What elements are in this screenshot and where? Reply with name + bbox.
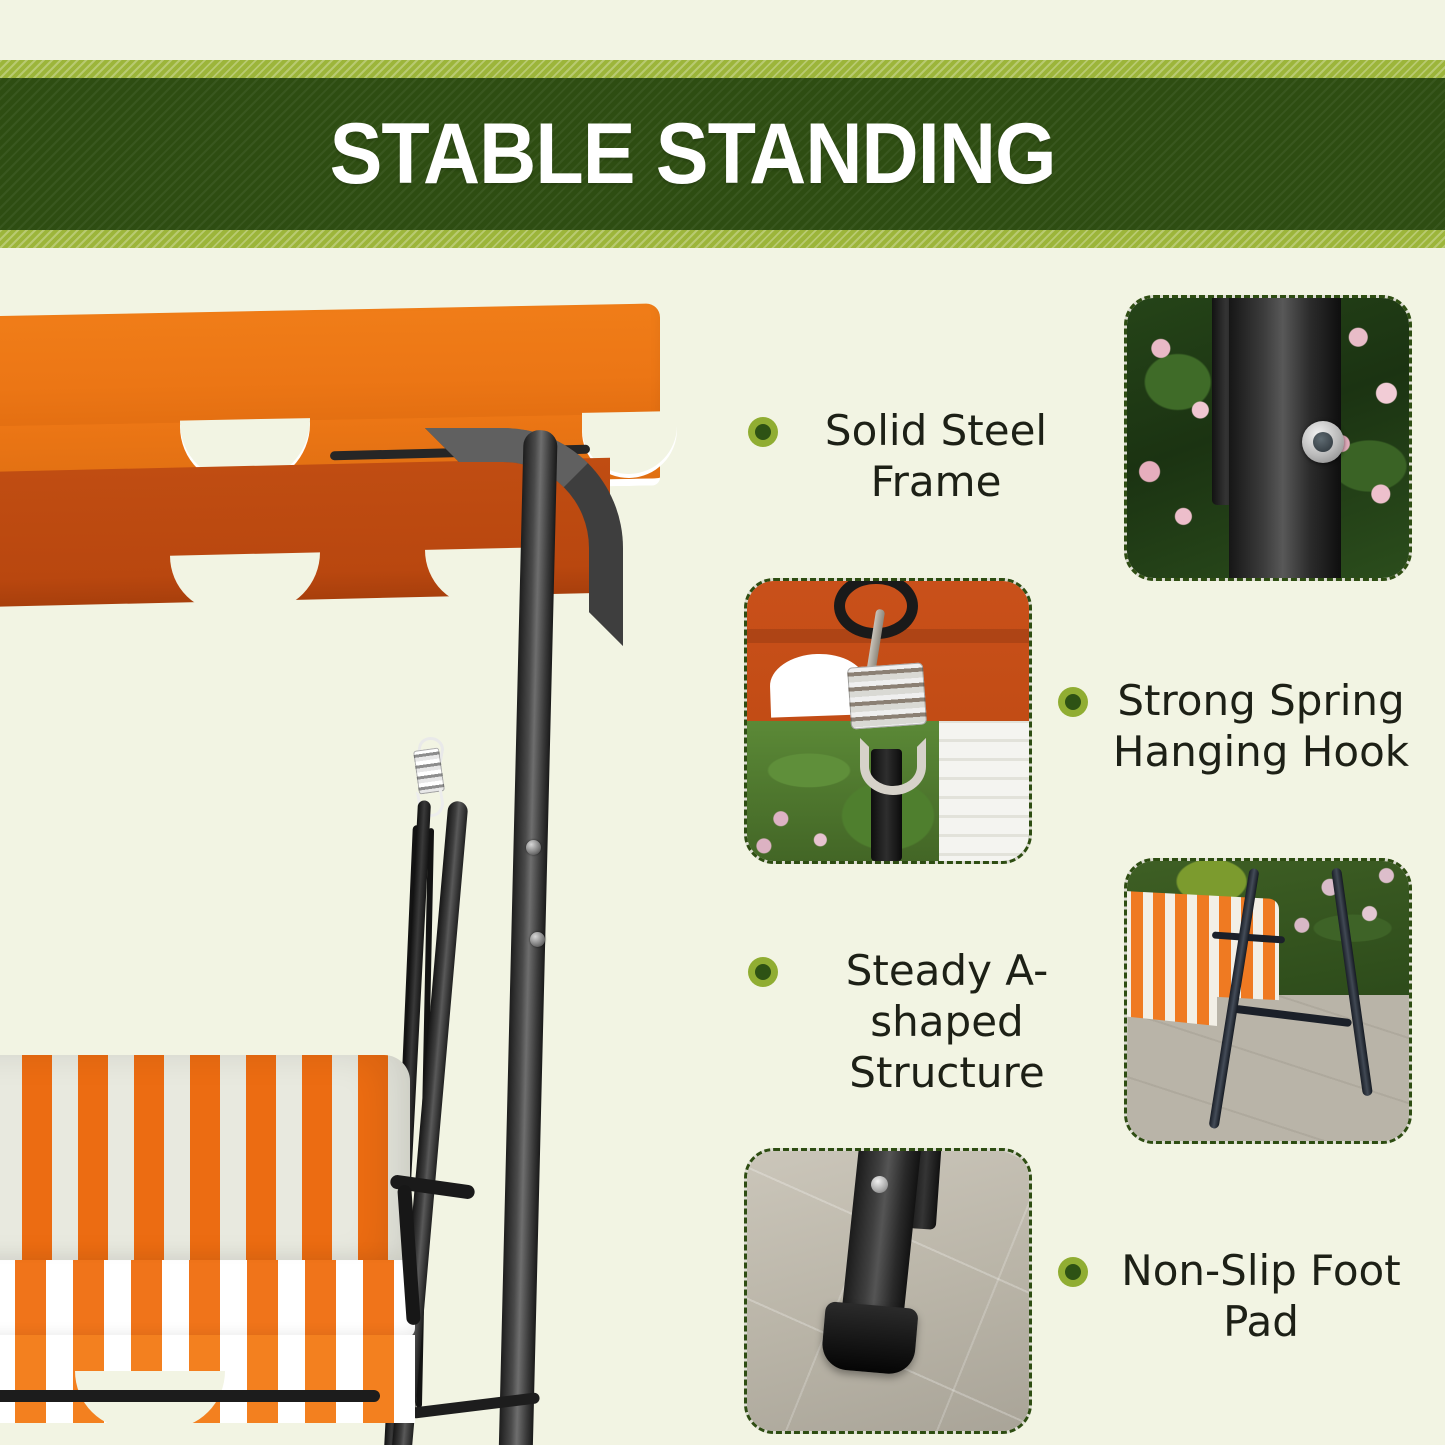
swing-seat (0, 1055, 440, 1415)
feature-label-line1: Non-Slip Foot (1121, 1246, 1400, 1295)
feature-label-text: Non-Slip Foot Pad (1104, 1245, 1418, 1347)
white-fence-background (939, 704, 1029, 861)
feature-thumbnail-spring-hook (744, 578, 1032, 864)
infographic-page: STABLE STANDING (0, 0, 1445, 1445)
feature-thumbnail-solid-steel-frame (1124, 295, 1412, 581)
steel-bolt-icon (1302, 421, 1344, 463)
seat-skirt-striped (0, 1335, 415, 1423)
feature-label-text: Strong Spring Hanging Hook (1104, 675, 1418, 777)
thumbnail-image-a-frame-patio (1127, 861, 1409, 1141)
feature-label-line1: Solid Steel (825, 406, 1047, 455)
feature-label-text: Solid Steel Frame (794, 405, 1078, 507)
seat-backrest-striped (0, 1055, 410, 1265)
page-title: STABLE STANDING (329, 105, 1055, 204)
banner-body: STABLE STANDING (0, 78, 1445, 230)
feature-label-line2: Structure (849, 1048, 1044, 1097)
thumbnail-image-foot-pad (747, 1151, 1029, 1431)
bullet-icon (1058, 687, 1088, 717)
non-slip-foot-pad (820, 1301, 919, 1376)
feature-label-steady-a-shaped-structure: Steady A-shaped Structure (748, 945, 1100, 1099)
hook-lower-curve (860, 738, 926, 795)
frame-rivet (530, 932, 545, 947)
banner-stripe-top (0, 60, 1445, 78)
feature-thumbnail-a-frame (1124, 858, 1412, 1144)
feature-label-line1: Strong Spring (1117, 676, 1404, 725)
feature-thumbnail-foot-pad (744, 1148, 1032, 1434)
feature-label-solid-steel-frame: Solid Steel Frame (748, 405, 1078, 507)
canopy-underside-notch (170, 552, 320, 613)
bullet-icon (1058, 1257, 1088, 1287)
feature-label-line2: Frame (871, 457, 1002, 506)
thumbnail-image-steel-tube-bolt (1127, 298, 1409, 578)
feature-label-strong-spring-hanging-hook: Strong Spring Hanging Hook (1058, 675, 1418, 777)
feature-label-text: Steady A-shaped Structure (794, 945, 1100, 1099)
bullet-icon (748, 957, 778, 987)
striped-seat-skirt (1127, 971, 1217, 1026)
feature-label-non-slip-foot-pad: Non-Slip Foot Pad (1058, 1245, 1418, 1347)
seat-bottom-bar (0, 1390, 380, 1402)
feature-label-line2: Pad (1223, 1297, 1299, 1346)
hero-product-image (0, 280, 670, 1440)
feature-label-line1: Steady A-shaped (846, 946, 1049, 1046)
feature-label-line2: Hanging Hook (1113, 727, 1409, 776)
frame-rivet (526, 840, 541, 855)
bullet-icon (748, 417, 778, 447)
seat-cushion-striped (0, 1260, 415, 1338)
header-banner: STABLE STANDING (0, 60, 1445, 248)
banner-stripe-bottom (0, 230, 1445, 248)
hook-spring-coil (846, 662, 926, 729)
thumbnail-image-spring-hook (747, 581, 1029, 861)
